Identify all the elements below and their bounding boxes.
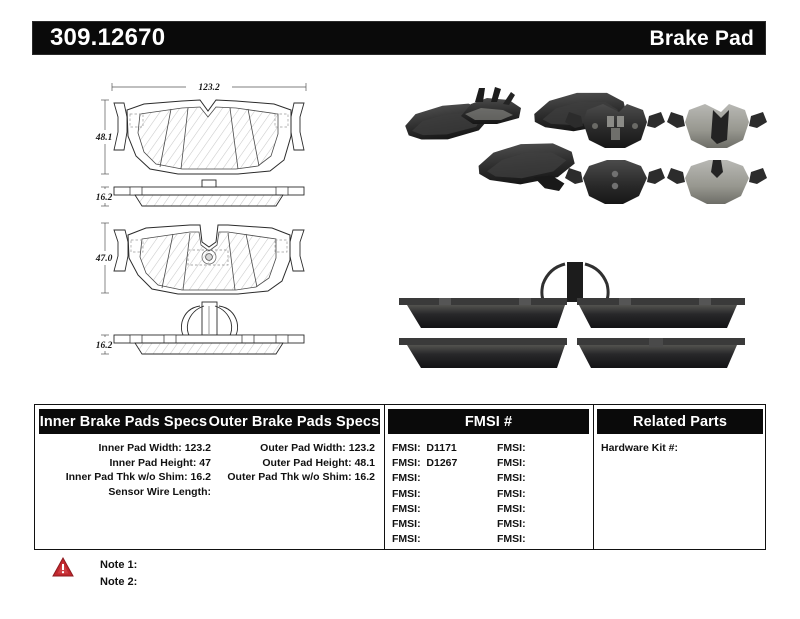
inner-pad-face-view: 47.0	[89, 223, 304, 294]
wear-sensor-clip	[181, 302, 237, 338]
outer-spec-row: Outer Pad Height: 48.1	[215, 456, 375, 471]
inner-spec-row: Inner Pad Thk w/o Shim: 16.2	[41, 470, 211, 485]
dim-inner-thickness: 16.2	[96, 341, 113, 351]
fmsi-list-right: FMSI: FMSI: FMSI: FMSI: FMSI: FMSI: FMSI…	[497, 441, 589, 547]
part-number: 309.12670	[50, 24, 165, 52]
fmsi-row: FMSI:	[497, 471, 589, 486]
inner-spec-row: Sensor Wire Length:	[41, 485, 211, 500]
product-photos	[385, 70, 775, 375]
fmsi-row: FMSI:	[392, 487, 488, 502]
header-band-related-parts: Related Parts	[597, 409, 763, 434]
inner-spec-row: Inner Pad Width: 123.2	[41, 441, 211, 456]
spec-sheet-page: 309.12670 Brake Pad 123.2	[0, 0, 800, 619]
technical-drawings: 123.2 48.1	[78, 70, 348, 375]
wear-sensor-photo	[542, 262, 608, 304]
note-line: Note 2:	[100, 574, 137, 591]
notes-section: Note 1: Note 2:	[52, 557, 137, 591]
divider-outer-fmsi	[384, 405, 385, 549]
outer-spec-row: Outer Pad Thk w/o Shim: 16.2	[215, 470, 375, 485]
fmsi-row: FMSI: D1171	[392, 441, 488, 456]
column-header-related-parts: Related Parts	[633, 414, 727, 430]
dim-outer-width: 123.2	[198, 83, 220, 93]
header-band-fmsi: FMSI #	[388, 409, 589, 434]
fmsi-row: FMSI:	[392, 502, 488, 517]
related-parts-list: Hardware Kit #:	[601, 441, 761, 456]
header-band-specs: Inner Brake Pads Specs Outer Brake Pads …	[39, 409, 380, 434]
page-title: Brake Pad	[649, 25, 754, 53]
photos-svg	[385, 70, 775, 375]
dim-outer-height: 48.1	[95, 133, 113, 143]
column-header-inner-specs: Inner Brake Pads Specs	[40, 414, 207, 430]
dim-outer-thickness: 16.2	[96, 193, 113, 203]
inner-specs-list: Inner Pad Width: 123.2 Inner Pad Height:…	[41, 441, 211, 499]
outer-spec-row: Outer Pad Width: 123.2	[215, 441, 375, 456]
column-header-outer-specs: Outer Brake Pads Specs	[209, 414, 380, 430]
fmsi-row: FMSI:	[392, 471, 488, 486]
warning-icon	[52, 557, 74, 577]
fmsi-row: FMSI:	[497, 517, 589, 532]
brake-pad-edge-photo-bottom	[399, 262, 745, 368]
inner-pad-edge-view: 16.2	[89, 302, 304, 354]
fmsi-row: FMSI:	[497, 487, 589, 502]
note-lines: Note 1: Note 2:	[100, 557, 137, 591]
related-parts-row: Hardware Kit #:	[601, 441, 761, 456]
fmsi-list-left: FMSI: D1171 FMSI: D1267 FMSI: FMSI: FMSI…	[392, 441, 488, 547]
fmsi-row: FMSI:	[497, 441, 589, 456]
fmsi-row: FMSI:	[392, 532, 488, 547]
note-line: Note 1:	[100, 557, 137, 574]
fmsi-row: FMSI: D1267	[392, 456, 488, 471]
brake-pad-set-photo-top-right	[565, 104, 767, 204]
outer-specs-list: Outer Pad Width: 123.2 Outer Pad Height:…	[215, 441, 375, 485]
column-header-fmsi: FMSI #	[465, 414, 512, 430]
outer-pad-edge-view: 16.2	[89, 180, 304, 206]
fmsi-row: FMSI:	[497, 502, 589, 517]
divider-fmsi-related	[593, 405, 594, 549]
dim-inner-height: 47.0	[95, 254, 113, 264]
outer-pad-face-view: 123.2 48.1	[89, 80, 306, 174]
spec-table: Inner Brake Pads Specs Outer Brake Pads …	[34, 404, 766, 550]
inner-spec-row: Inner Pad Height: 47	[41, 456, 211, 471]
fmsi-row: FMSI:	[497, 456, 589, 471]
drawings-svg: 123.2 48.1	[78, 70, 348, 375]
fmsi-row: FMSI:	[392, 517, 488, 532]
fmsi-row: FMSI:	[497, 532, 589, 547]
